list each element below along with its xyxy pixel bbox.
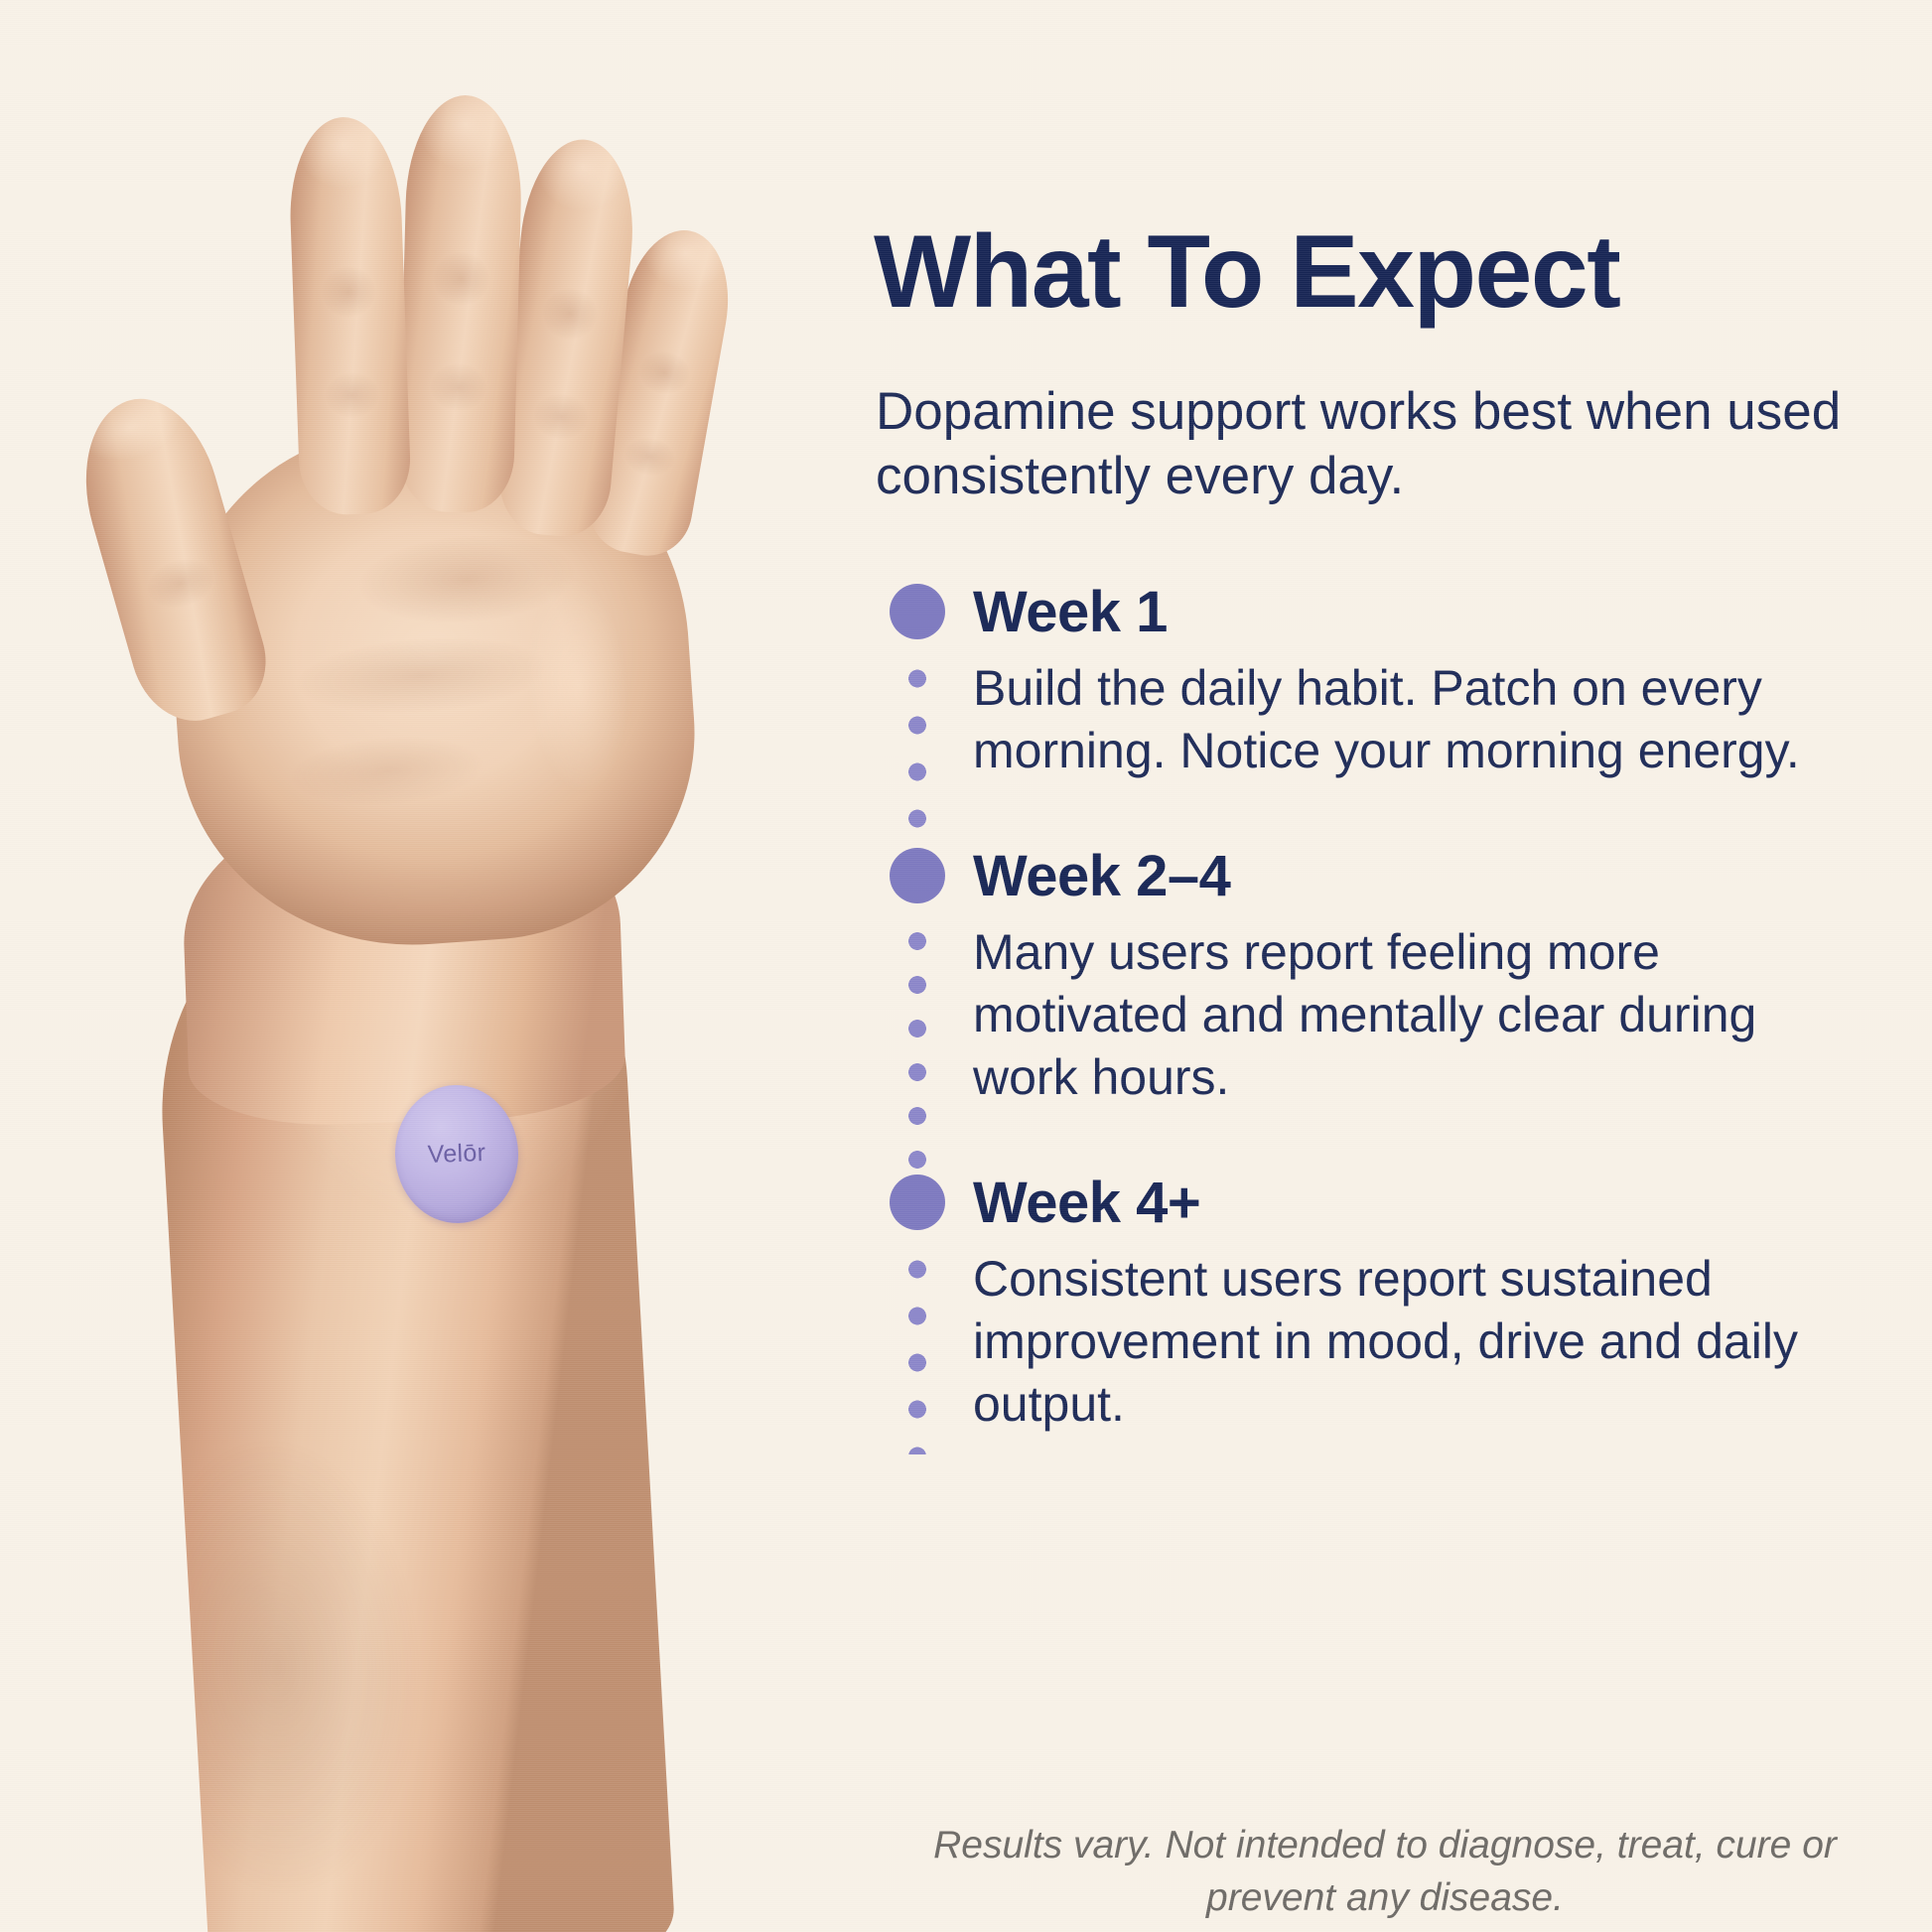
timeline-marker-icon [890, 584, 945, 639]
timeline-dotted-connector-icon [908, 655, 926, 848]
timeline-marker-icon [890, 848, 945, 903]
index-finger-illustration [287, 115, 412, 516]
timeline-dotted-connector-icon [908, 919, 926, 1174]
expectations-timeline: Week 1 Build the daily habit. Patch on e… [874, 584, 1926, 1436]
timeline-rail [874, 1174, 973, 1436]
timeline-content: Week 1 Build the daily habit. Patch on e… [973, 584, 1926, 848]
patch-brand-label: Velōr [427, 1139, 485, 1170]
timeline-heading: Week 1 [973, 584, 1926, 641]
product-photo: Velōr [0, 0, 874, 1932]
poster-canvas: Velōr What To Expect Dopamine support wo… [0, 0, 1932, 1932]
timeline-description: Many users report feeling more motivated… [973, 921, 1847, 1109]
page-subtitle: Dopamine support works best when used co… [876, 380, 1868, 508]
middle-finger-illustration [398, 94, 524, 514]
timeline-heading: Week 4+ [973, 1174, 1926, 1232]
legal-disclaimer: Results vary. Not intended to diagnose, … [874, 1820, 1896, 1924]
timeline-content: Week 2–4 Many users report feeling more … [973, 848, 1926, 1174]
timeline-description: Consistent users report sustained improv… [973, 1248, 1847, 1436]
timeline-rail [874, 584, 973, 848]
page-title: What To Expect [874, 220, 1906, 324]
timeline-dotted-connector-icon [908, 1246, 926, 1454]
timeline-heading: Week 2–4 [973, 848, 1926, 905]
timeline-item-week-4-plus: Week 4+ Consistent users report sustaine… [874, 1174, 1926, 1436]
content-column: What To Expect Dopamine support works be… [874, 0, 1932, 1932]
timeline-item-week-2-4: Week 2–4 Many users report feeling more … [874, 848, 1926, 1174]
timeline-marker-icon [890, 1174, 945, 1230]
timeline-rail [874, 848, 973, 1174]
timeline-content: Week 4+ Consistent users report sustaine… [973, 1174, 1926, 1436]
timeline-item-week-1: Week 1 Build the daily habit. Patch on e… [874, 584, 1926, 848]
timeline-description: Build the daily habit. Patch on every mo… [973, 657, 1847, 782]
